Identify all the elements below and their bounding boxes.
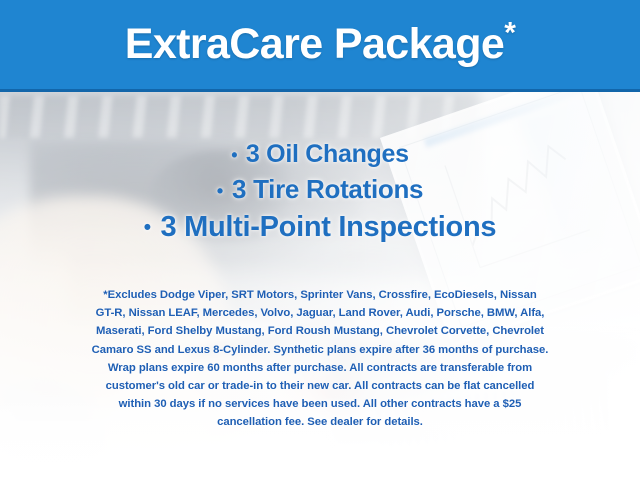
bullet-dot-icon: • bbox=[217, 180, 225, 201]
disclaimer-line: Maserati, Ford Shelby Mustang, Ford Rous… bbox=[30, 322, 610, 340]
benefit-item-label: 3 Oil Changes bbox=[246, 140, 409, 168]
disclaimer-line: cancellation fee. See dealer for details… bbox=[30, 413, 610, 431]
benefits-list: • 3 Oil Changes • 3 Tire Rotations • 3 M… bbox=[0, 138, 640, 247]
disclaimer-text: *Excludes Dodge Viper, SRT Motors, Sprin… bbox=[30, 286, 610, 432]
benefit-item-label: 3 Multi-Point Inspections bbox=[161, 211, 497, 243]
page-title-asterisk: * bbox=[504, 17, 515, 50]
disclaimer-line: GT-R, Nissan LEAF, Mercedes, Volvo, Jagu… bbox=[30, 304, 610, 322]
disclaimer-line: Wrap plans expire 60 months after purcha… bbox=[30, 359, 610, 377]
page-title-text: ExtraCare Package bbox=[125, 20, 504, 68]
bullet-dot-icon: • bbox=[231, 145, 239, 165]
bullet-dot-icon: • bbox=[144, 216, 153, 239]
benefit-item-label: 3 Tire Rotations bbox=[232, 174, 423, 204]
disclaimer-line: within 30 days if no services have been … bbox=[30, 395, 610, 413]
disclaimer-line: Camaro SS and Lexus 8-Cylinder. Syntheti… bbox=[30, 341, 610, 359]
header-band: ExtraCare Package* bbox=[0, 0, 640, 92]
benefit-item-multi-point-inspections: • 3 Multi-Point Inspections bbox=[0, 208, 640, 247]
benefit-item-tire-rotations: • 3 Tire Rotations bbox=[0, 172, 640, 208]
disclaimer-line: customer's old car or trade-in to their … bbox=[30, 377, 610, 395]
extracare-package-banner: ExtraCare Package* • 3 Oil Changes • 3 T… bbox=[0, 0, 640, 480]
benefit-item-oil-changes: • 3 Oil Changes bbox=[0, 138, 640, 172]
disclaimer-line: *Excludes Dodge Viper, SRT Motors, Sprin… bbox=[30, 286, 610, 304]
page-title: ExtraCare Package* bbox=[125, 23, 516, 66]
